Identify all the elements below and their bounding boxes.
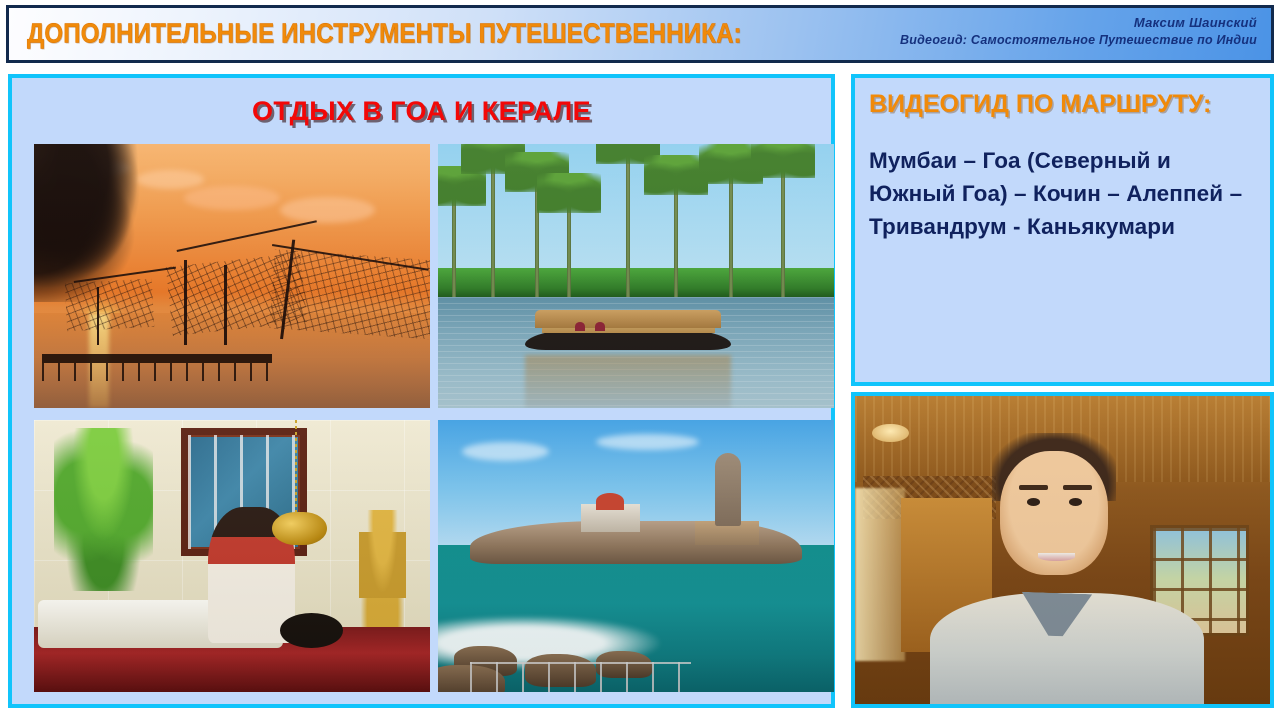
presenter-mouth xyxy=(1038,553,1075,561)
wooden-pier xyxy=(42,354,272,363)
cloud-shape xyxy=(462,442,549,461)
net-mast xyxy=(184,260,187,344)
potted-plant xyxy=(54,428,153,591)
presenter-eyebrow xyxy=(1019,485,1048,489)
page-title: ДОПОЛНИТЕЛЬНЫЕ ИНСТРУМЕНТЫ ПУТЕШЕСТВЕННИ… xyxy=(27,17,742,49)
window-curtain xyxy=(855,488,905,660)
boat-window xyxy=(575,322,585,331)
right-panel-heading: ВИДЕОГИД ПО МАРШРУТУ: xyxy=(869,90,1270,119)
left-content-panel: ОТДЫХ В ГОА И КЕРАЛЕ xyxy=(8,74,835,708)
presenter-eyebrow xyxy=(1063,485,1092,489)
boat-reflection xyxy=(525,355,731,408)
slide-root: ДОПОЛНИТЕЛЬНЫЕ ИНСТРУМЕНТЫ ПУТЕШЕСТВЕННИ… xyxy=(0,0,1280,720)
shore-railing xyxy=(470,662,692,692)
thiruvalluvar-statue xyxy=(715,453,741,526)
cloud-shape xyxy=(184,186,279,210)
route-description: Мумбаи – Гоа (Северный и Южный Гоа) – Ко… xyxy=(869,145,1256,244)
header-credits: Максим Шаинский Видеогид: Самостоятельно… xyxy=(900,14,1257,48)
photo-kerala-backwaters-houseboat xyxy=(438,144,834,408)
photo-ayurveda-shirodhara-massage xyxy=(34,420,430,692)
presenter-eye xyxy=(1027,498,1040,506)
net-mast xyxy=(224,265,227,344)
photo-kanyakumari-vivekananda-rock xyxy=(438,420,834,692)
boat-window xyxy=(595,322,605,331)
ceiling-lamp xyxy=(872,424,909,442)
course-subtitle: Видеогид: Самостоятельное Путешествие по… xyxy=(900,32,1257,49)
fishing-net-mesh xyxy=(269,249,430,340)
houseboat xyxy=(525,292,731,350)
right-route-panel: ВИДЕОГИД ПО МАРШРУТУ: Мумбаи – Гоа (Севе… xyxy=(851,74,1274,386)
presenter-video-panel[interactable] xyxy=(851,392,1274,708)
author-name: Максим Шаинский xyxy=(900,14,1257,32)
left-panel-heading: ОТДЫХ В ГОА И КЕРАЛЕ xyxy=(12,96,831,127)
thatched-roof xyxy=(535,310,720,327)
cloud-shape xyxy=(596,434,699,450)
presenter-eye xyxy=(1069,498,1082,506)
memorial-dome xyxy=(596,493,624,509)
slide-header: ДОПОЛНИТЕЛЬНЫЕ ИНСТРУМЕНТЫ ПУТЕШЕСТВЕННИ… xyxy=(6,5,1274,63)
cloud-shape xyxy=(280,197,375,223)
photo-chinese-fishing-nets-sunset xyxy=(34,144,430,408)
brass-oil-lamp xyxy=(359,510,407,632)
photo-grid xyxy=(34,144,824,692)
presenter-webcam-video xyxy=(855,396,1270,704)
hanging-chain xyxy=(295,420,297,518)
fishing-net-mesh xyxy=(64,279,153,331)
net-mast xyxy=(97,287,99,345)
brass-oil-pot xyxy=(272,512,327,545)
